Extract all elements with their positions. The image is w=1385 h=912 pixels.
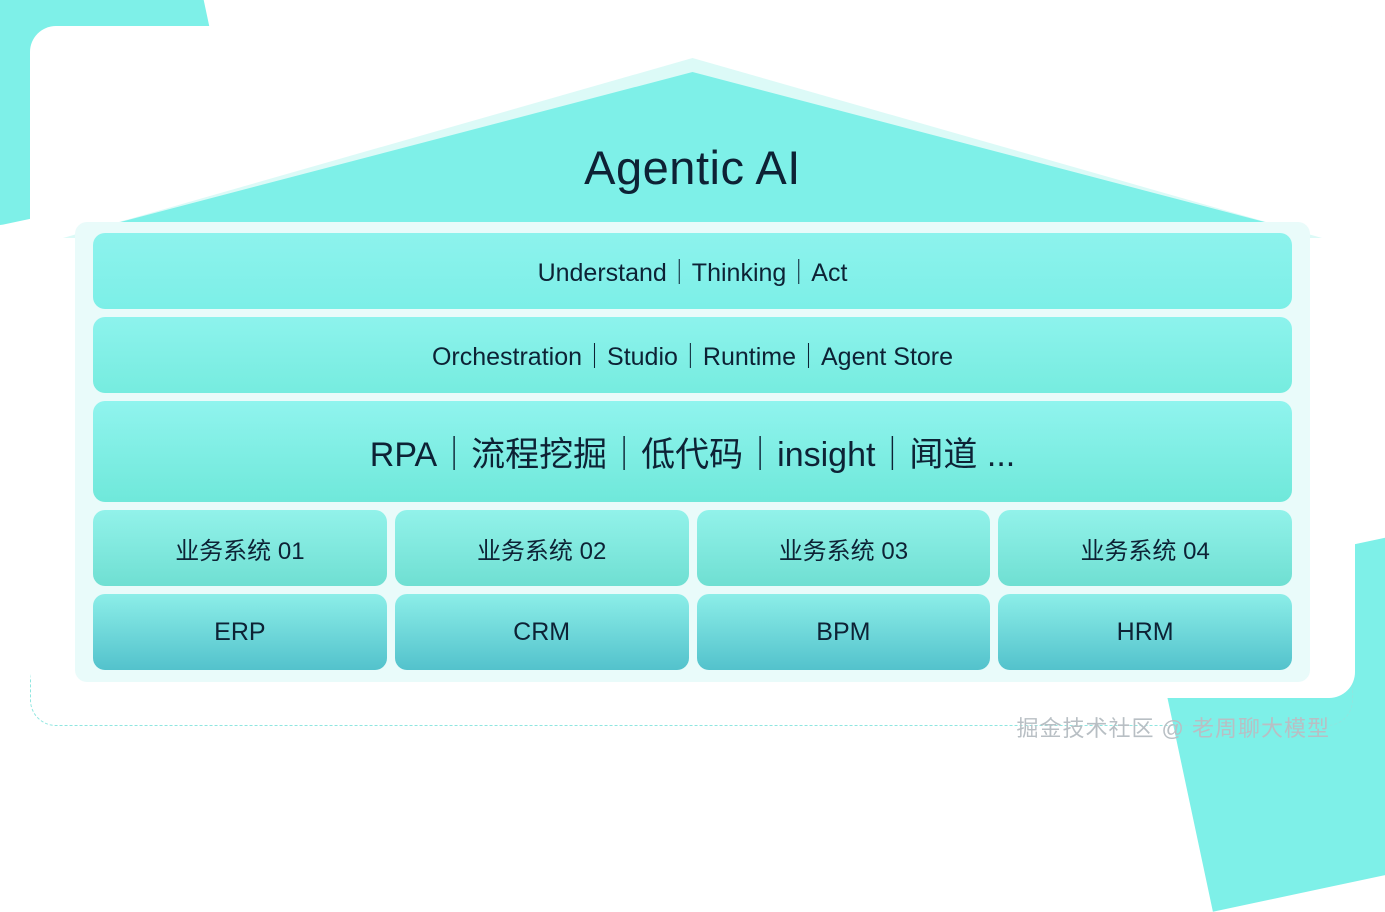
applications-row: ERP CRM BPM HRM: [93, 594, 1292, 670]
house-diagram: Agentic AI Understand｜Thinking｜Act Orche…: [30, 26, 1355, 698]
business-system-04[interactable]: 业务系统 04: [998, 510, 1292, 586]
business-system-03[interactable]: 业务系统 03: [697, 510, 991, 586]
application-bpm[interactable]: BPM: [697, 594, 991, 670]
business-systems-row: 业务系统 01 业务系统 02 业务系统 03 业务系统 04: [93, 510, 1292, 586]
watermark-credit: 掘金技术社区 @ 老周聊大模型: [1016, 711, 1330, 743]
application-crm[interactable]: CRM: [395, 594, 689, 670]
layer-band-understand[interactable]: Understand｜Thinking｜Act: [93, 233, 1292, 309]
layer-band-orchestration[interactable]: Orchestration｜Studio｜Runtime｜Agent Store: [93, 317, 1292, 393]
application-erp[interactable]: ERP: [93, 594, 387, 670]
business-system-02[interactable]: 业务系统 02: [395, 510, 689, 586]
layers-stack: Understand｜Thinking｜Act Orchestration｜St…: [93, 233, 1292, 670]
business-system-01[interactable]: 业务系统 01: [93, 510, 387, 586]
page-title: Agentic AI: [30, 144, 1355, 191]
application-hrm[interactable]: HRM: [998, 594, 1292, 670]
layer-band-products[interactable]: RPA｜流程挖掘｜低代码｜insight｜闻道 ...: [93, 401, 1292, 502]
